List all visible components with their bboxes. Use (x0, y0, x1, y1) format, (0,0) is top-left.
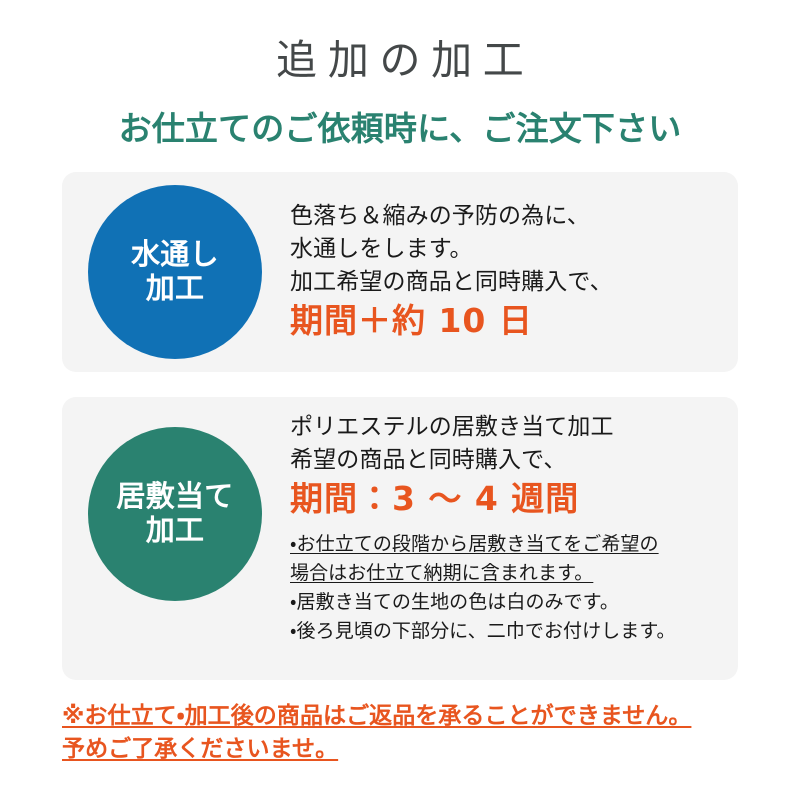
additional-processing-infographic: 追加の加工 お仕立てのご依頼時に、ご注文下さい 水通し 加工 色落ち＆縮みの予防… (0, 0, 800, 800)
card-ishikiate-note-3: ・居敷き当ての生地の色は白のみです。 (290, 588, 728, 617)
card-ishikiate-highlight: 期間：3 ～ 4 週間 (290, 477, 728, 521)
card-mizutoshi-desc-line-1: 色落ち＆縮みの予防の為に、 (290, 200, 728, 233)
badge-mizutoshi-line2: 加工 (146, 272, 205, 306)
card-mizutoshi-desc-line-2: 水通しをします。 (290, 233, 728, 266)
badge-ishikiate-line1: 居敷当て (116, 480, 233, 514)
card-ishikiate-body: ポリエステルの居敷き当て加工 希望の商品と同時購入で、 期間：3 ～ 4 週間 … (290, 411, 728, 646)
card-mizutoshi-body: 色落ち＆縮みの予防の為に、 水通しをします。 加工希望の商品と同時購入で、 期間… (290, 200, 728, 343)
badge-ishikiate: 居敷当て 加工 (88, 427, 262, 601)
card-mizutoshi-highlight: 期間＋約 10 日 (290, 299, 728, 343)
card-ishikiate-desc-line-1: ポリエステルの居敷き当て加工 (290, 411, 728, 444)
card-mizutoshi-desc-line-3: 加工希望の商品と同時購入で、 (290, 266, 728, 299)
badge-ishikiate-line2: 加工 (146, 514, 205, 548)
badge-mizutoshi-line1: 水通し (131, 238, 219, 272)
page-subtitle: お仕立てのご依頼時に、ご注文下さい (0, 110, 800, 148)
card-ishikiate-note-2: 場合はお仕立て納期に含まれます。 (290, 559, 728, 588)
card-ishikiate-note-1: ・お仕立ての段階から居敷き当てをご希望の (290, 530, 728, 559)
card-mizutoshi: 水通し 加工 色落ち＆縮みの予防の為に、 水通しをします。 加工希望の商品と同時… (62, 172, 738, 372)
return-policy-notice: ※お仕立て・加工後の商品はご返品を承ることができません。 予めご了承くださいませ… (62, 700, 762, 766)
badge-mizutoshi: 水通し 加工 (88, 185, 262, 359)
page-title: 追加の加工 (0, 38, 800, 83)
return-policy-notice-line-2: 予めご了承くださいませ。 (62, 733, 762, 766)
card-ishikiate: 居敷当て 加工 ポリエステルの居敷き当て加工 希望の商品と同時購入で、 期間：3… (62, 397, 738, 680)
return-policy-notice-line-1: ※お仕立て・加工後の商品はご返品を承ることができません。 (62, 700, 762, 733)
card-ishikiate-note-4: ・後ろ見頃の下部分に、二巾でお付けします。 (290, 617, 728, 646)
card-ishikiate-notes: ・お仕立ての段階から居敷き当てをご希望の 場合はお仕立て納期に含まれます。 ・居… (290, 530, 728, 646)
card-ishikiate-desc-line-2: 希望の商品と同時購入で、 (290, 444, 728, 477)
